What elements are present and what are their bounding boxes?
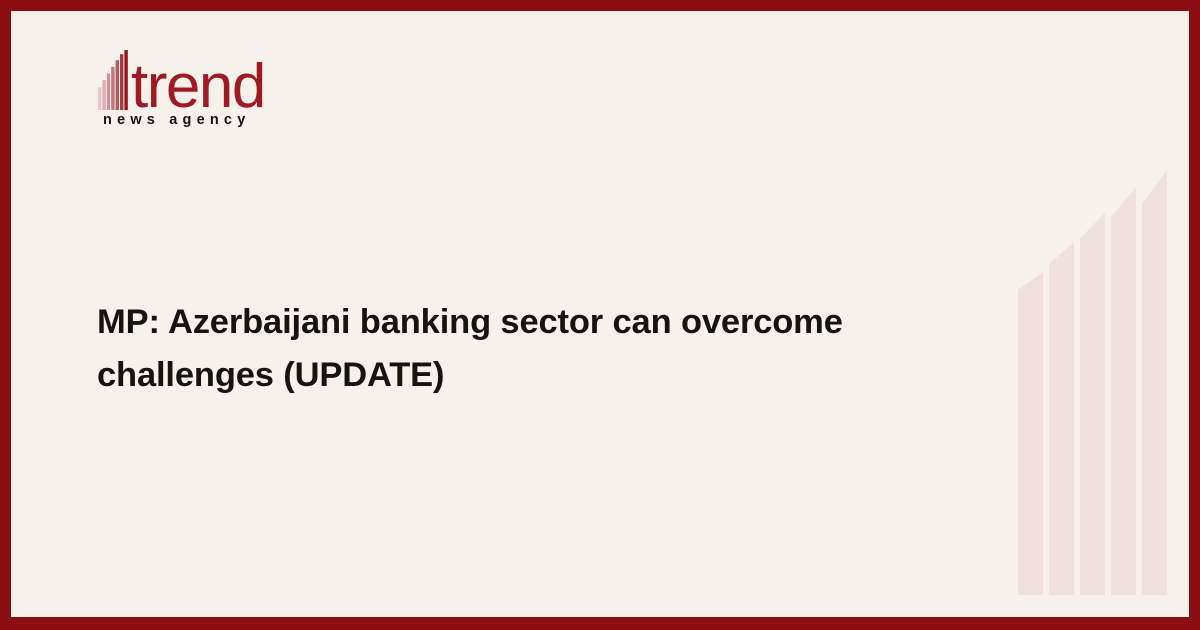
logo-mark-bar	[124, 50, 127, 110]
ascending-bars-mark	[98, 50, 128, 110]
trend-news-agency-logo[interactable]: trend news agency	[97, 50, 297, 142]
logo-mark-bar	[102, 80, 105, 110]
ascending-bar-chart-watermark	[1017, 170, 1167, 595]
logo-mark-bar	[120, 54, 123, 110]
logo-wordmark: trend	[131, 52, 265, 112]
page-title: MP: Azerbaijani banking sector can overc…	[97, 296, 977, 402]
logo-mark-bar	[98, 87, 101, 110]
watermark-bar	[1111, 187, 1136, 595]
logo-mark-bar	[107, 73, 110, 110]
logo-mark-bar	[116, 60, 119, 110]
logo-svg: trend	[97, 50, 275, 112]
watermark-bar	[1142, 170, 1167, 595]
watermark-bar	[1049, 242, 1074, 595]
watermark-bar	[1018, 272, 1043, 595]
watermark-bars-svg	[1017, 170, 1167, 595]
social-share-card: trend news agency MP: Azerbaijani bankin…	[0, 0, 1200, 630]
logo-mark-bar	[111, 67, 114, 110]
logo-tagline: news agency	[103, 112, 250, 128]
watermark-bar	[1080, 213, 1105, 596]
logo-mark-and-wordmark: trend	[97, 50, 275, 112]
